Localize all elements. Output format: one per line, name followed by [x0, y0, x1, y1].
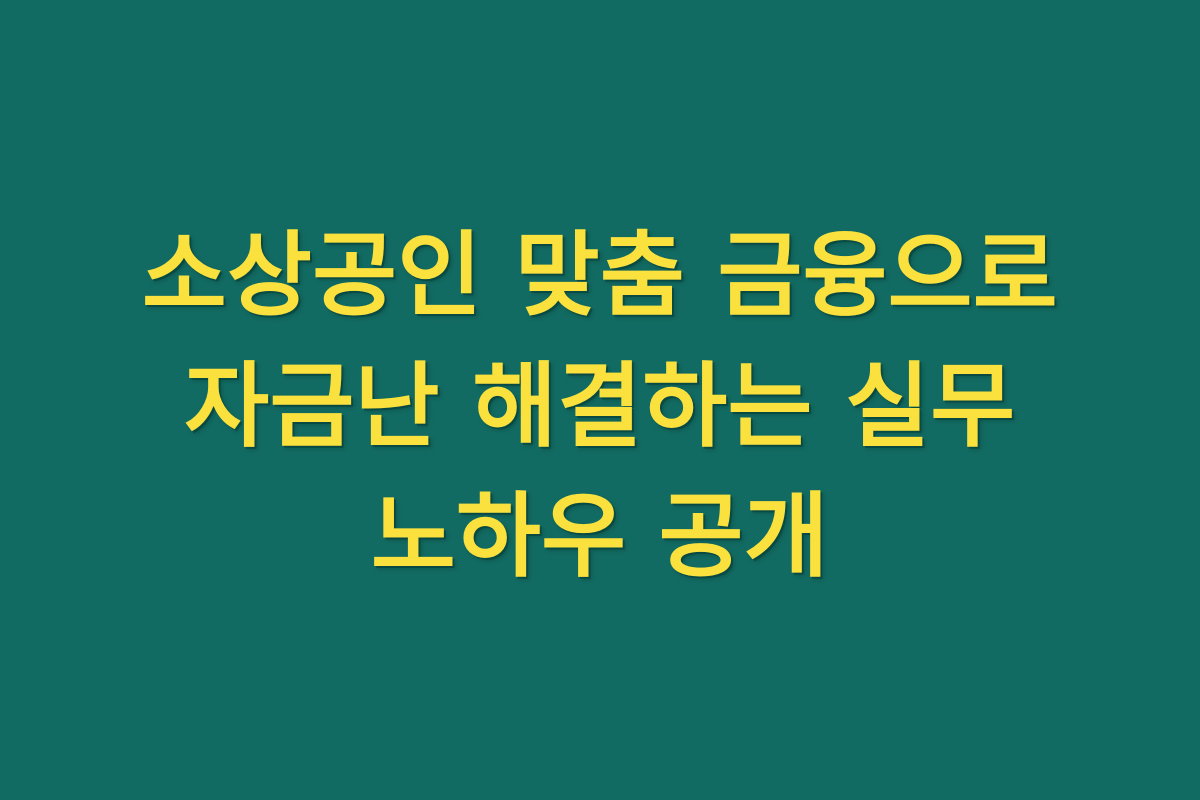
headline-line-3: 노하우 공개 — [40, 472, 1160, 603]
headline-line-2: 자금난 해결하는 실무 — [40, 342, 1160, 473]
banner-canvas: 소상공인 맞춤 금융으로 자금난 해결하는 실무 노하우 공개 — [0, 0, 1200, 800]
headline-line-1: 소상공인 맞춤 금융으로 — [40, 211, 1160, 342]
headline-block: 소상공인 맞춤 금융으로 자금난 해결하는 실무 노하우 공개 — [0, 211, 1200, 603]
